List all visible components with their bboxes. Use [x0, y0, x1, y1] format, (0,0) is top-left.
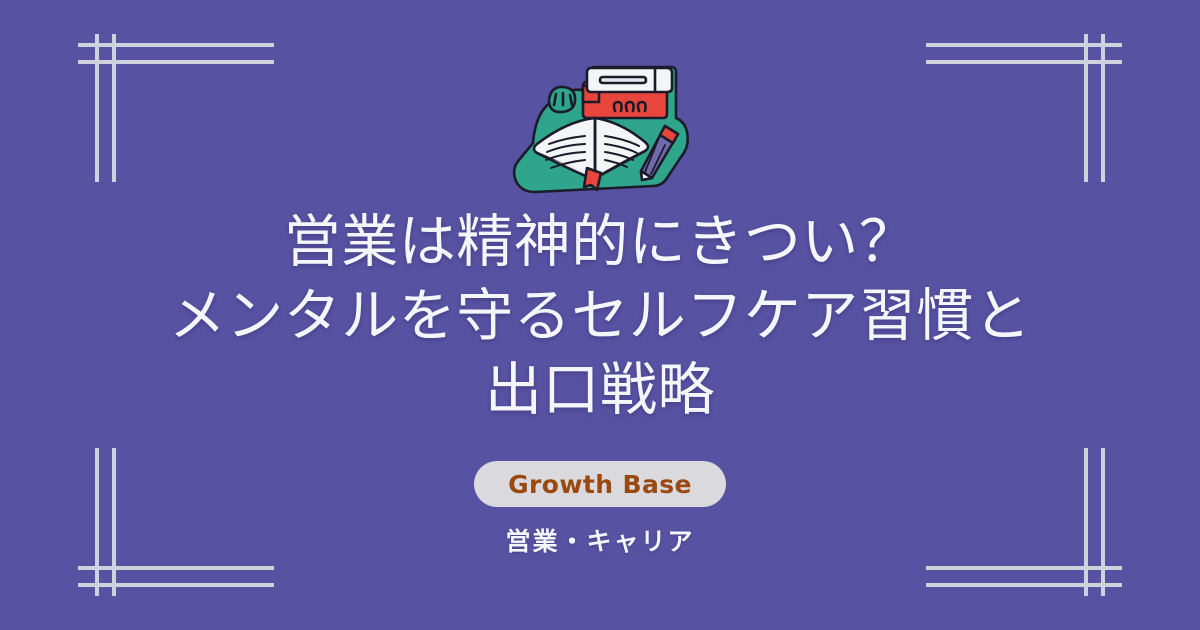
title-line-3: 出口戦略 [169, 353, 1032, 427]
corner-line-horizontal-inner [78, 60, 274, 64]
corner-line-horizontal-outer [926, 583, 1122, 587]
corner-line-vertical-inner [112, 34, 116, 182]
corner-line-horizontal-outer [78, 43, 274, 47]
site-name-badge: Growth Base [474, 461, 726, 507]
card-content: 営業は精神的にきつい？ メンタルを守るセルフケア習慣と 出口戦略 Growth … [0, 205, 1200, 558]
corner-line-horizontal-outer [78, 583, 274, 587]
corner-line-horizontal-inner [78, 566, 274, 570]
corner-line-vertical-inner [1084, 34, 1088, 182]
title-line-1: 営業は精神的にきつい？ [169, 205, 1032, 279]
corner-line-vertical-outer [95, 34, 99, 182]
corner-decoration-top-left [34, 18, 146, 108]
open-book-illustration [495, 60, 705, 200]
title-line-2: メンタルを守るセルフケア習慣と [169, 279, 1032, 353]
corner-line-horizontal-inner [926, 566, 1122, 570]
corner-line-horizontal-outer [926, 43, 1122, 47]
corner-decoration-top-right [1054, 18, 1166, 108]
page-title: 営業は精神的にきつい？ メンタルを守るセルフケア習慣と 出口戦略 [99, 205, 1102, 427]
corner-line-horizontal-inner [926, 60, 1122, 64]
og-image-card: 営業は精神的にきつい？ メンタルを守るセルフケア習慣と 出口戦略 Growth … [0, 0, 1200, 630]
corner-line-vertical-outer [1101, 34, 1105, 182]
category-label: 営業・キャリア [505, 522, 694, 558]
